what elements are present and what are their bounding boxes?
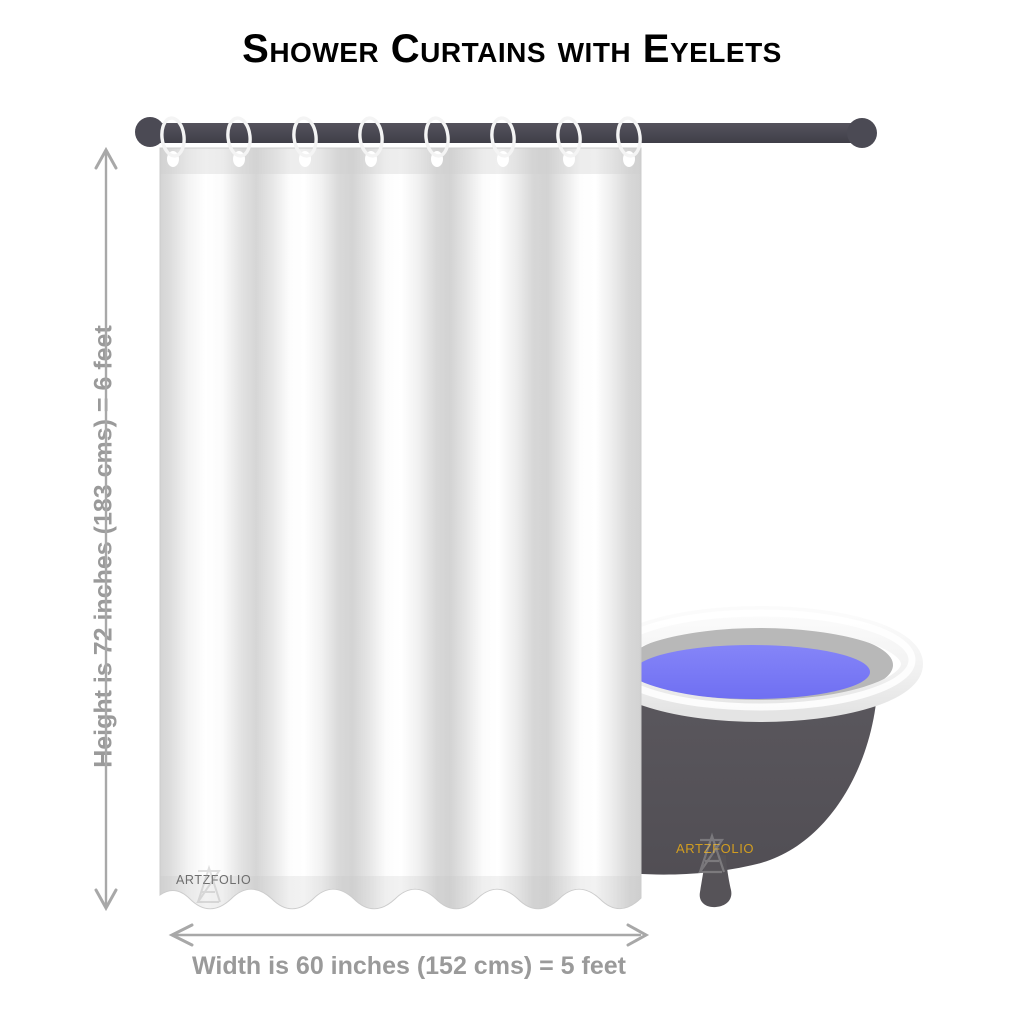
rod-finial-right xyxy=(847,118,877,148)
product-diagram-canvas: Shower Curtains with Eyelets Height is 7… xyxy=(0,0,1024,1024)
curtain-panel xyxy=(160,148,641,916)
curtain-fabric xyxy=(160,148,641,916)
height-dimension-arrow xyxy=(96,150,116,908)
width-dimension-arrow xyxy=(172,925,646,945)
shower-curtain-illustration: ARTZFOLIO xyxy=(0,0,1024,1024)
rod-bar xyxy=(150,123,864,143)
bathtub: ARTZFOLIO xyxy=(600,613,912,907)
